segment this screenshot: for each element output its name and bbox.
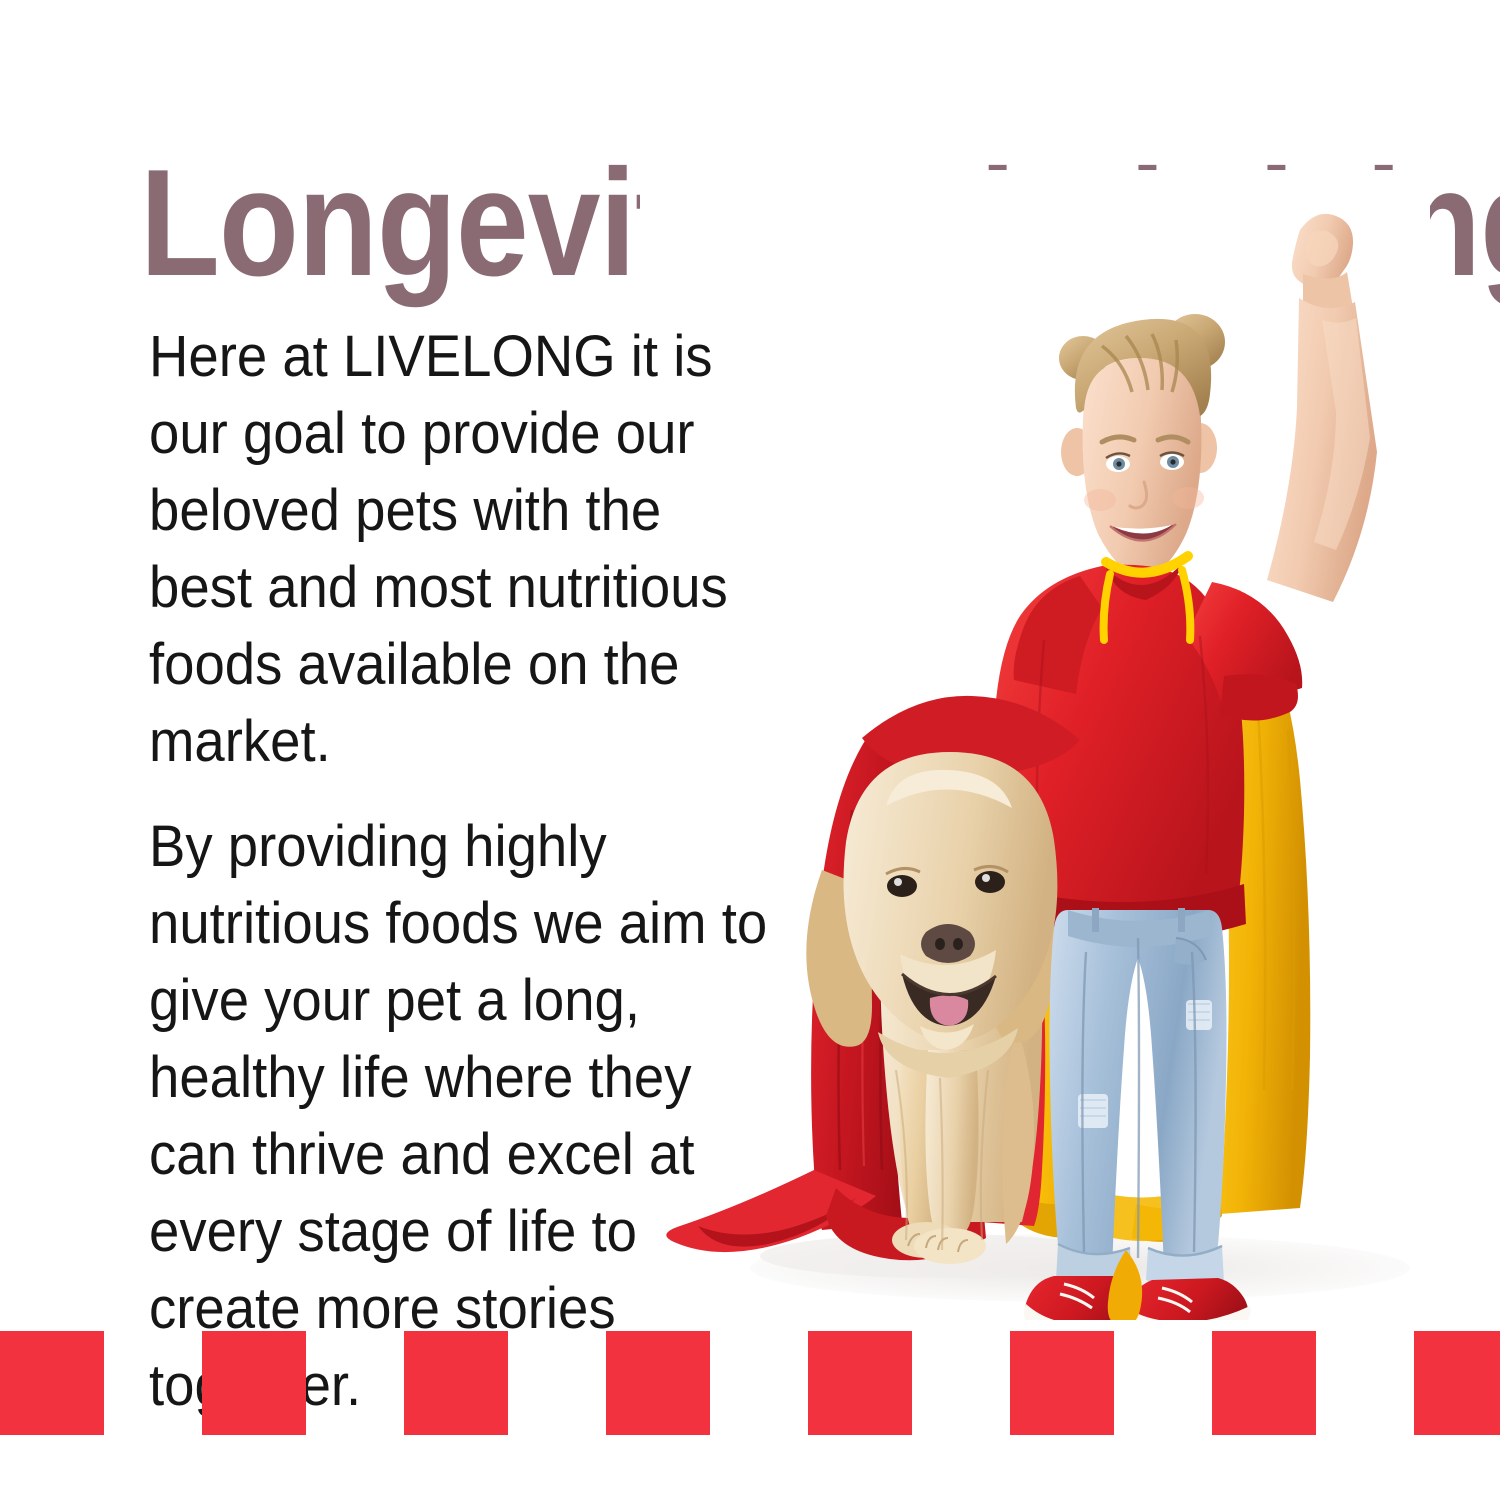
paragraph-1: Here at LIVELONG it is our goal to provi… xyxy=(149,318,769,780)
red-square xyxy=(404,1331,508,1435)
red-square xyxy=(0,1331,104,1435)
body-copy: Here at LIVELONG it is our goal to provi… xyxy=(149,318,809,1424)
red-square xyxy=(1212,1331,1316,1435)
red-square-strip xyxy=(0,1331,1500,1435)
girl-jeans xyxy=(1050,908,1227,1291)
red-square xyxy=(808,1331,912,1435)
red-square xyxy=(1414,1331,1500,1435)
red-square xyxy=(202,1331,306,1435)
poster-canvas: Longevity and Thriving Life xyxy=(0,0,1500,1500)
red-square xyxy=(606,1331,710,1435)
red-square xyxy=(1010,1331,1114,1435)
